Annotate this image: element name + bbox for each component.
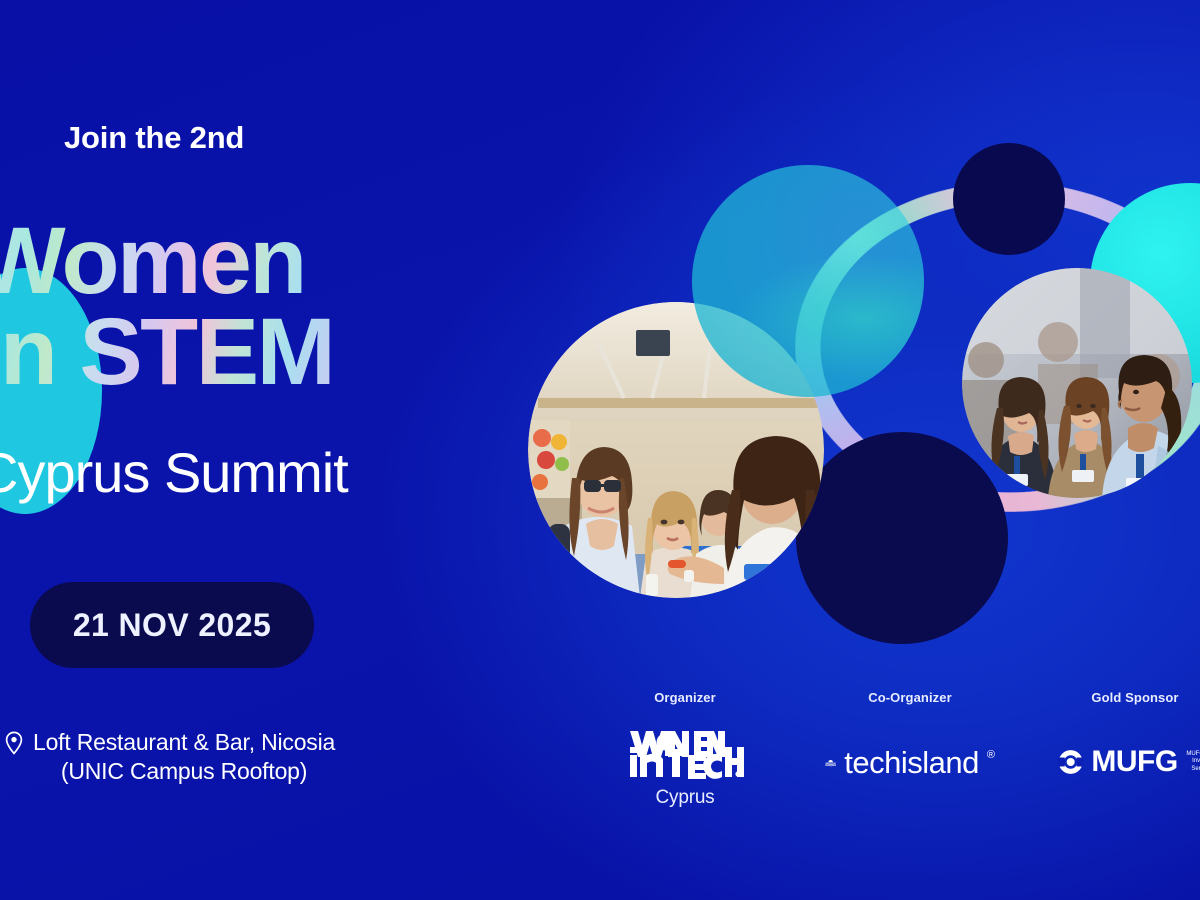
sponsor-label-gold: Gold Sponsor bbox=[1050, 690, 1200, 705]
women-in-tech-cyprus-sublabel: Cyprus bbox=[600, 787, 770, 809]
map-pin-icon bbox=[4, 731, 24, 760]
subtitle: Cyprus Summit bbox=[0, 440, 348, 505]
event-date-badge: 21 NOV 2025 bbox=[30, 582, 314, 668]
navy-circle-large-decoration bbox=[796, 432, 1008, 644]
mufg-wordmark: MUFG bbox=[1091, 745, 1177, 779]
photo-conference-audience bbox=[962, 268, 1192, 498]
techisland-trademark: ® bbox=[987, 749, 995, 761]
mufg-logo[interactable]: MUFG MUFG Bank Investor Services bbox=[1050, 745, 1200, 779]
mufg-tagline: MUFG Bank Investor Services bbox=[1186, 751, 1200, 773]
techisland-wordmark: techisland bbox=[844, 745, 979, 781]
venue-line-2: (UNIC Campus Rooftop) bbox=[33, 757, 335, 786]
women-in-tech-cyprus-logo[interactable] bbox=[600, 727, 770, 783]
sponsors-row: Organizer bbox=[600, 680, 1200, 820]
sponsor-co-organizer: Co-Organizer techisland ® bbox=[825, 690, 995, 781]
banner-copy-column: Join the 2nd Women in STEM Cyprus Summit… bbox=[0, 0, 520, 900]
venue-block: Loft Restaurant & Bar, Nicosia (UNIC Cam… bbox=[4, 728, 424, 786]
mufg-circle-icon bbox=[1058, 745, 1083, 779]
sponsor-organizer: Organizer bbox=[600, 690, 770, 809]
page-title: Women in STEM bbox=[0, 216, 536, 398]
venue-line-1: Loft Restaurant & Bar, Nicosia bbox=[33, 729, 335, 755]
event-banner: Join the 2nd Women in STEM Cyprus Summit… bbox=[0, 0, 1200, 900]
sunset-waves-icon bbox=[825, 746, 836, 780]
sponsor-label-organizer: Organizer bbox=[600, 690, 770, 705]
sponsor-label-co-organizer: Co-Organizer bbox=[825, 690, 995, 705]
techisland-logo[interactable]: techisland ® bbox=[825, 745, 995, 781]
navy-circle-top-decoration bbox=[953, 143, 1065, 255]
venue-address: Loft Restaurant & Bar, Nicosia (UNIC Cam… bbox=[33, 728, 335, 786]
teal-overlay-circle-decoration bbox=[692, 165, 924, 397]
sponsor-gold: Gold Sponsor MUFG MUFG Bank Investor Ser… bbox=[1050, 690, 1200, 779]
eyebrow-text: Join the 2nd bbox=[64, 120, 244, 156]
event-date-text: 21 NOV 2025 bbox=[73, 607, 271, 644]
